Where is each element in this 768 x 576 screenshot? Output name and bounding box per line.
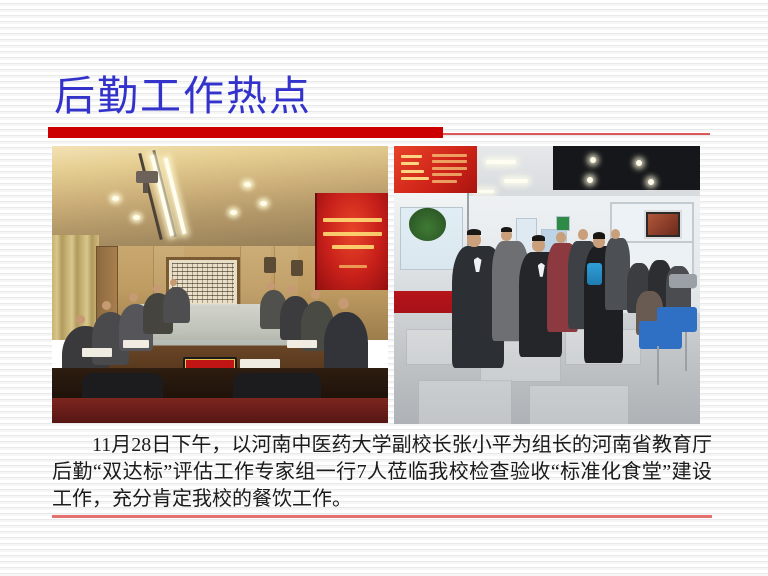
wall-speaker (264, 257, 276, 273)
attendee-head (311, 290, 320, 299)
window-curtain (52, 235, 99, 340)
attendee (163, 287, 190, 323)
projector-icon (136, 171, 158, 183)
attendee-head (153, 285, 161, 293)
ceiling-light (486, 160, 516, 164)
exit-sign (556, 216, 570, 232)
seat-leg (657, 346, 659, 385)
banner-text-line (432, 154, 467, 157)
inspector-head (578, 229, 588, 240)
banner-text-line (432, 180, 457, 183)
bottom-divider (52, 515, 712, 518)
photo-conference-room-content (52, 146, 388, 423)
inspector-hair (532, 235, 545, 241)
screen-text-line (323, 232, 382, 236)
banner-text-line (401, 155, 422, 158)
attendee-head (338, 298, 349, 309)
seat-leg (685, 332, 687, 371)
attendee-head (170, 279, 177, 286)
ceiling-dark-panel (553, 146, 700, 190)
carpet (52, 398, 388, 423)
attendee-head (267, 282, 275, 290)
potted-plant (409, 207, 446, 240)
cafeteria-seat (639, 321, 682, 349)
wall-tv (644, 210, 682, 239)
banner-text-line (432, 173, 462, 176)
inspector-hair (501, 227, 512, 232)
inspector-hair (467, 229, 481, 235)
document-paper (82, 348, 112, 356)
banner-text-line (401, 177, 429, 180)
banner-text-line (401, 162, 419, 165)
document-paper (287, 340, 317, 348)
slide-body-text: 11月28日下午，以河南中医药大学副校长张小平为组长的河南省教育厅后勤“双达标”… (52, 432, 712, 513)
projection-screen (315, 193, 388, 290)
downlight (133, 215, 140, 220)
attendee-head (129, 293, 138, 302)
dining-table (669, 274, 697, 288)
price-banner (394, 146, 477, 193)
inspector-head (556, 232, 566, 243)
banner-text-line (432, 167, 467, 170)
screen-text-line (332, 245, 374, 249)
student-diner (666, 266, 690, 313)
screen-text-line (339, 265, 367, 268)
document-paper (123, 340, 150, 348)
screen-text-line (323, 218, 382, 222)
floor-tile (418, 380, 512, 424)
ceiling-spotlight (636, 160, 642, 166)
inspector-hair (593, 232, 605, 239)
ceiling-spotlight (590, 157, 596, 163)
presentation-slide: 后勤工作热点 (0, 0, 768, 576)
wall-speaker (291, 260, 303, 276)
banner-text-line (401, 170, 424, 173)
title-underline-thick (48, 127, 443, 138)
slide-title: 后勤工作热点 (54, 72, 714, 122)
blue-shoulder-bag (587, 263, 602, 285)
attendee (324, 312, 368, 376)
ceiling-light (504, 179, 528, 183)
ceiling-spotlight (587, 177, 593, 183)
photo-conference-room (52, 146, 388, 423)
photo-cafeteria-content (394, 146, 700, 424)
downlight (230, 210, 237, 215)
floor-tile (529, 385, 629, 424)
attendee-head (76, 315, 85, 324)
downlight (244, 182, 251, 187)
attendee-head (287, 285, 296, 294)
photo-cafeteria-inspection (394, 146, 700, 424)
inspector (605, 238, 629, 310)
banner-text-line (432, 160, 467, 163)
